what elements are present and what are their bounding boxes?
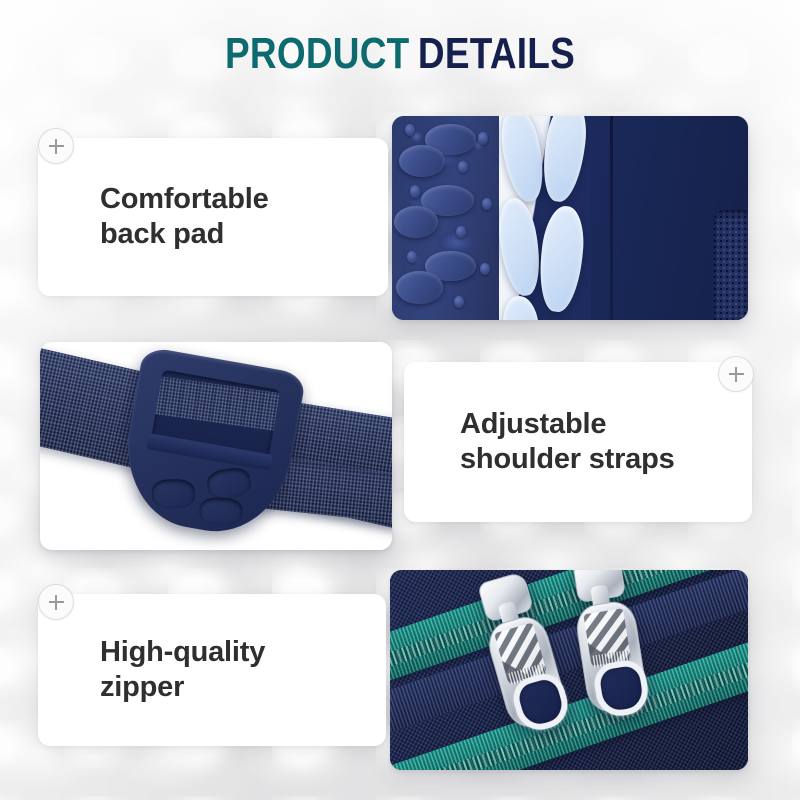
feature-card-high-quality-zipper[interactable]: High-quality zipper (38, 594, 386, 746)
page-title: PRODUCTDETAILS (64, 32, 736, 76)
back-pad-light-cushions (499, 116, 592, 320)
feature-photo-high-quality-zipper (390, 570, 748, 770)
feature-label-comfortable-back-pad: Comfortable back pad (100, 182, 269, 253)
feature-card-adjustable-shoulder-straps[interactable]: Adjustable shoulder straps (404, 362, 752, 522)
plus-icon[interactable] (718, 356, 754, 392)
title-word-details: DETAILS (418, 29, 575, 78)
plus-icon[interactable] (38, 128, 74, 164)
strap-adjuster-buckle (114, 346, 307, 543)
feature-photo-adjustable-shoulder-straps (40, 342, 392, 550)
feature-photo-comfortable-back-pad (392, 116, 748, 320)
feature-label-high-quality-zipper: High-quality zipper (100, 635, 265, 706)
feature-card-comfortable-back-pad[interactable]: Comfortable back pad (38, 138, 388, 296)
feature-label-adjustable-shoulder-straps: Adjustable shoulder straps (460, 407, 675, 478)
back-pad-dark-panel (591, 116, 748, 320)
mesh-pocket (714, 210, 748, 320)
back-pad-bump-texture (392, 116, 502, 320)
title-word-product: PRODUCT (225, 29, 410, 78)
infographic-stage: PRODUCTDETAILS (0, 0, 800, 800)
plus-icon[interactable] (38, 584, 74, 620)
